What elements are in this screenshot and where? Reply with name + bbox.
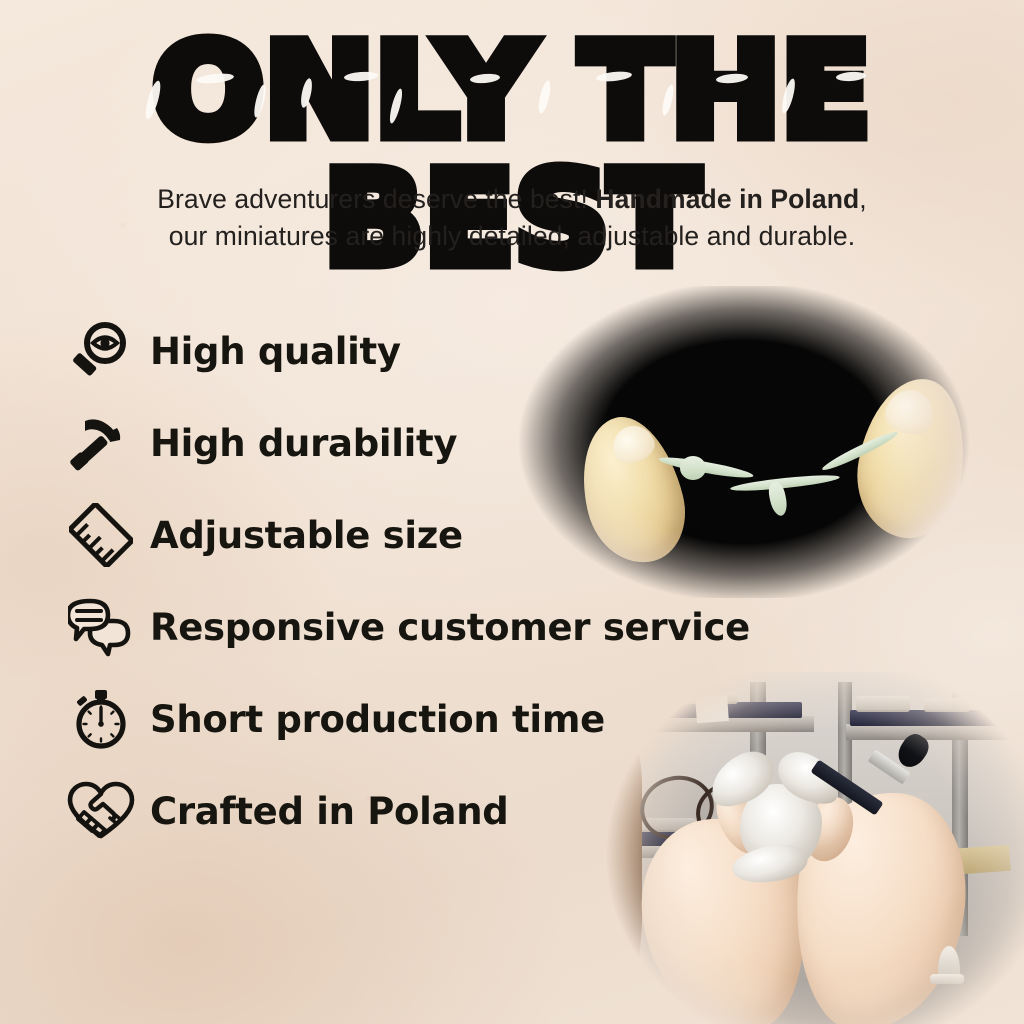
photo-bottom-background — [600, 672, 1024, 1024]
photo-top-background — [508, 286, 980, 598]
feature-label: Crafted in Poland — [150, 790, 508, 833]
shelf-board — [654, 716, 814, 732]
subtitle-line2: our miniatures are highly detailed, adju… — [169, 221, 856, 251]
subtitle-tail: , — [859, 184, 866, 214]
feature-label: Adjustable size — [150, 514, 463, 557]
miniature-tray — [662, 702, 802, 718]
miniature-tray — [850, 710, 1015, 726]
speech-bubbles-icon — [62, 588, 140, 666]
stopwatch-icon — [62, 680, 140, 758]
unpainted-miniature — [930, 974, 964, 984]
feature-label: High durability — [150, 422, 457, 465]
shelf-board — [846, 724, 1016, 740]
subtitle-lead: Brave adventurers deserve the best! — [157, 184, 595, 214]
miniature-pieces — [856, 696, 910, 712]
shelf-label — [695, 695, 729, 723]
flexing-miniature-photo — [508, 286, 980, 598]
cardboard-edge — [600, 730, 642, 980]
subtitle: Brave adventurers deserve the best! Hand… — [72, 181, 952, 254]
feature-label: Short production time — [150, 698, 605, 741]
ruler-icon — [62, 496, 140, 574]
painting-workshop-photo — [600, 672, 1024, 1024]
feature-label: High quality — [150, 330, 401, 373]
miniature-pieces — [924, 698, 970, 712]
miniature-joint — [680, 456, 706, 480]
subtitle-bold: Handmade in Poland — [595, 184, 859, 214]
magnifier-eye-icon — [62, 312, 140, 390]
heart-handshake-icon — [62, 772, 140, 850]
hammer-icon — [62, 404, 140, 482]
feature-label: Responsive customer service — [150, 606, 750, 649]
promo-poster: ONLY THE BEST Brave adventurers deserve … — [0, 0, 1024, 1024]
